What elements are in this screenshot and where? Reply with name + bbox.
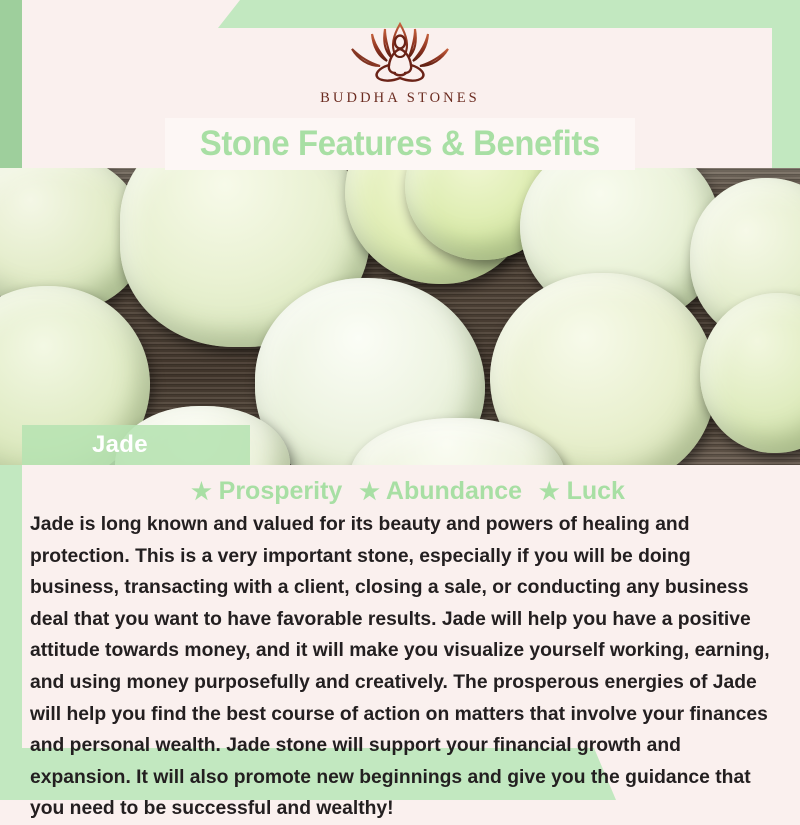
star-icon: ★ [191,478,212,504]
lotus-meditation-icon [325,18,475,86]
content-section: ★ Prosperity ★ Abundance ★ Luck Jade is … [22,465,800,825]
star-icon: ★ [539,478,560,504]
brand-name: BUDDHA STONES [320,90,480,107]
benefit-item: ★ Prosperity [191,477,342,505]
benefit-item: ★ Luck [539,477,625,505]
page-title: Stone Features & Benefits [200,124,600,164]
stone-name-label: Jade [92,431,148,459]
star-icon: ★ [359,478,380,504]
stone-photo [0,168,800,465]
brand-logo: BUDDHA STONES [0,18,800,107]
stone-name-band: Jade [22,425,250,465]
benefit-label: Prosperity [219,477,343,505]
benefit-label: Abundance [386,477,522,505]
description-text: Jade is long known and valued for its be… [30,509,775,825]
benefit-item: ★ Abundance [359,477,522,505]
benefit-label: Luck [567,477,625,505]
title-band: Stone Features & Benefits [165,118,635,170]
benefits-list: ★ Prosperity ★ Abundance ★ Luck [30,477,786,506]
left-green-block [0,455,22,785]
